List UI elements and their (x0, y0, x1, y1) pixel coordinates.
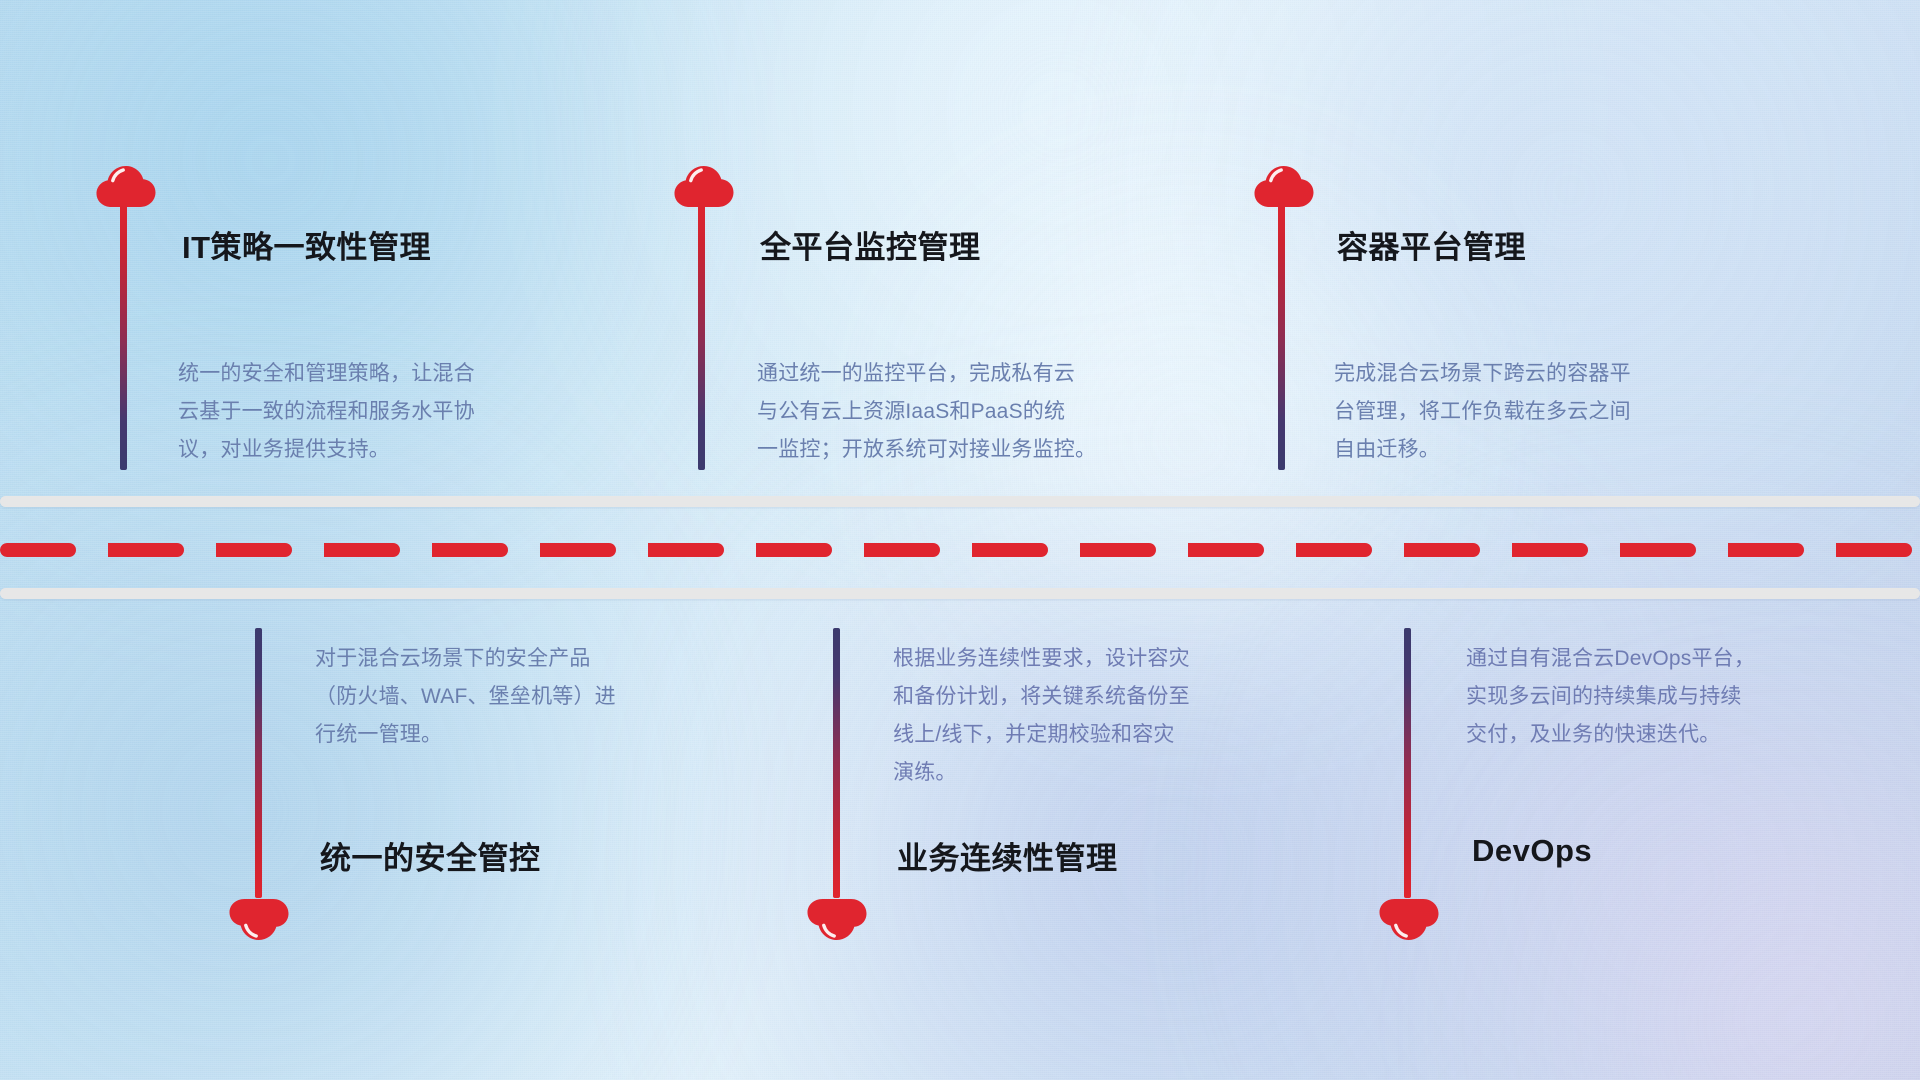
card-title: 业务连续性管理 (897, 833, 1118, 878)
desc-line: 通过自有混合云DevOps平台， (1466, 640, 1906, 678)
road-dash (14, 543, 76, 557)
desc-line: 云基于一致的流程和服务水平协 (178, 393, 618, 431)
road-center-dashes (0, 543, 1920, 557)
road-dash (1526, 543, 1588, 557)
infographic-canvas: IT策略一致性管理 统一的安全和管理策略，让混合 云基于一致的流程和服务水平协 … (0, 0, 1920, 1080)
road-dash (770, 543, 832, 557)
road-dash (1418, 543, 1480, 557)
card-description: 统一的安全和管理策略，让混合 云基于一致的流程和服务水平协 议，对业务提供支持。 (178, 355, 618, 469)
road-dash (1634, 543, 1696, 557)
cloud-icon (1378, 898, 1440, 944)
road-dash (230, 543, 292, 557)
road-dash (1202, 543, 1264, 557)
card-description: 根据业务连续性要求，设计容灾 和备份计划，将关键系统备份至 线上/线下，并定期校… (893, 640, 1333, 792)
card-description: 对于混合云场景下的安全产品 （防火墙、WAF、堡垒机等）进 行统一管理。 (315, 640, 755, 754)
connector-stem (833, 628, 840, 898)
road-dash (986, 543, 1048, 557)
desc-line: 自由迁移。 (1334, 431, 1774, 469)
desc-line: 行统一管理。 (315, 716, 755, 754)
road-dash (554, 543, 616, 557)
cloud-icon (228, 898, 290, 944)
desc-line: 完成混合云场景下跨云的容器平 (1334, 355, 1774, 393)
card-description: 通过统一的监控平台，完成私有云 与公有云上资源IaaS和PaaS的统 一监控；开… (757, 355, 1217, 469)
road-dash (878, 543, 940, 557)
desc-line: 演练。 (893, 754, 1333, 792)
connector-stem (255, 628, 262, 898)
card-title: 统一的安全管控 (320, 833, 541, 878)
road-dash (1310, 543, 1372, 557)
connector-stem (698, 200, 705, 470)
desc-line: （防火墙、WAF、堡垒机等）进 (315, 678, 755, 716)
desc-line: 一监控；开放系统可对接业务监控。 (757, 431, 1217, 469)
road-dash (1850, 543, 1912, 557)
desc-line: 对于混合云场景下的安全产品 (315, 640, 755, 678)
desc-line: 和备份计划，将关键系统备份至 (893, 678, 1333, 716)
road-dash (338, 543, 400, 557)
road-dash (1742, 543, 1804, 557)
connector-stem (1404, 628, 1411, 898)
road-dash (1094, 543, 1156, 557)
card-title: IT策略一致性管理 (182, 222, 431, 267)
card-title: DevOps (1472, 833, 1592, 869)
road-edge-bottom (0, 588, 1920, 599)
desc-line: 台管理，将工作负载在多云之间 (1334, 393, 1774, 431)
desc-line: 统一的安全和管理策略，让混合 (178, 355, 618, 393)
road-dash (662, 543, 724, 557)
desc-line: 通过统一的监控平台，完成私有云 (757, 355, 1217, 393)
desc-line: 议，对业务提供支持。 (178, 431, 618, 469)
desc-line: 根据业务连续性要求，设计容灾 (893, 640, 1333, 678)
card-description: 完成混合云场景下跨云的容器平 台管理，将工作负载在多云之间 自由迁移。 (1334, 355, 1774, 469)
card-description: 通过自有混合云DevOps平台， 实现多云间的持续集成与持续 交付，及业务的快速… (1466, 640, 1906, 754)
road-dash (446, 543, 508, 557)
desc-line: 实现多云间的持续集成与持续 (1466, 678, 1906, 716)
road-dash (122, 543, 184, 557)
desc-line: 线上/线下，并定期校验和容灾 (893, 716, 1333, 754)
desc-line: 交付，及业务的快速迭代。 (1466, 716, 1906, 754)
card-title: 全平台监控管理 (760, 222, 981, 267)
connector-stem (1278, 200, 1285, 470)
desc-line: 与公有云上资源IaaS和PaaS的统 (757, 393, 1217, 431)
connector-stem (120, 200, 127, 470)
card-title: 容器平台管理 (1337, 222, 1526, 267)
cloud-icon (806, 898, 868, 944)
road-edge-top (0, 496, 1920, 507)
